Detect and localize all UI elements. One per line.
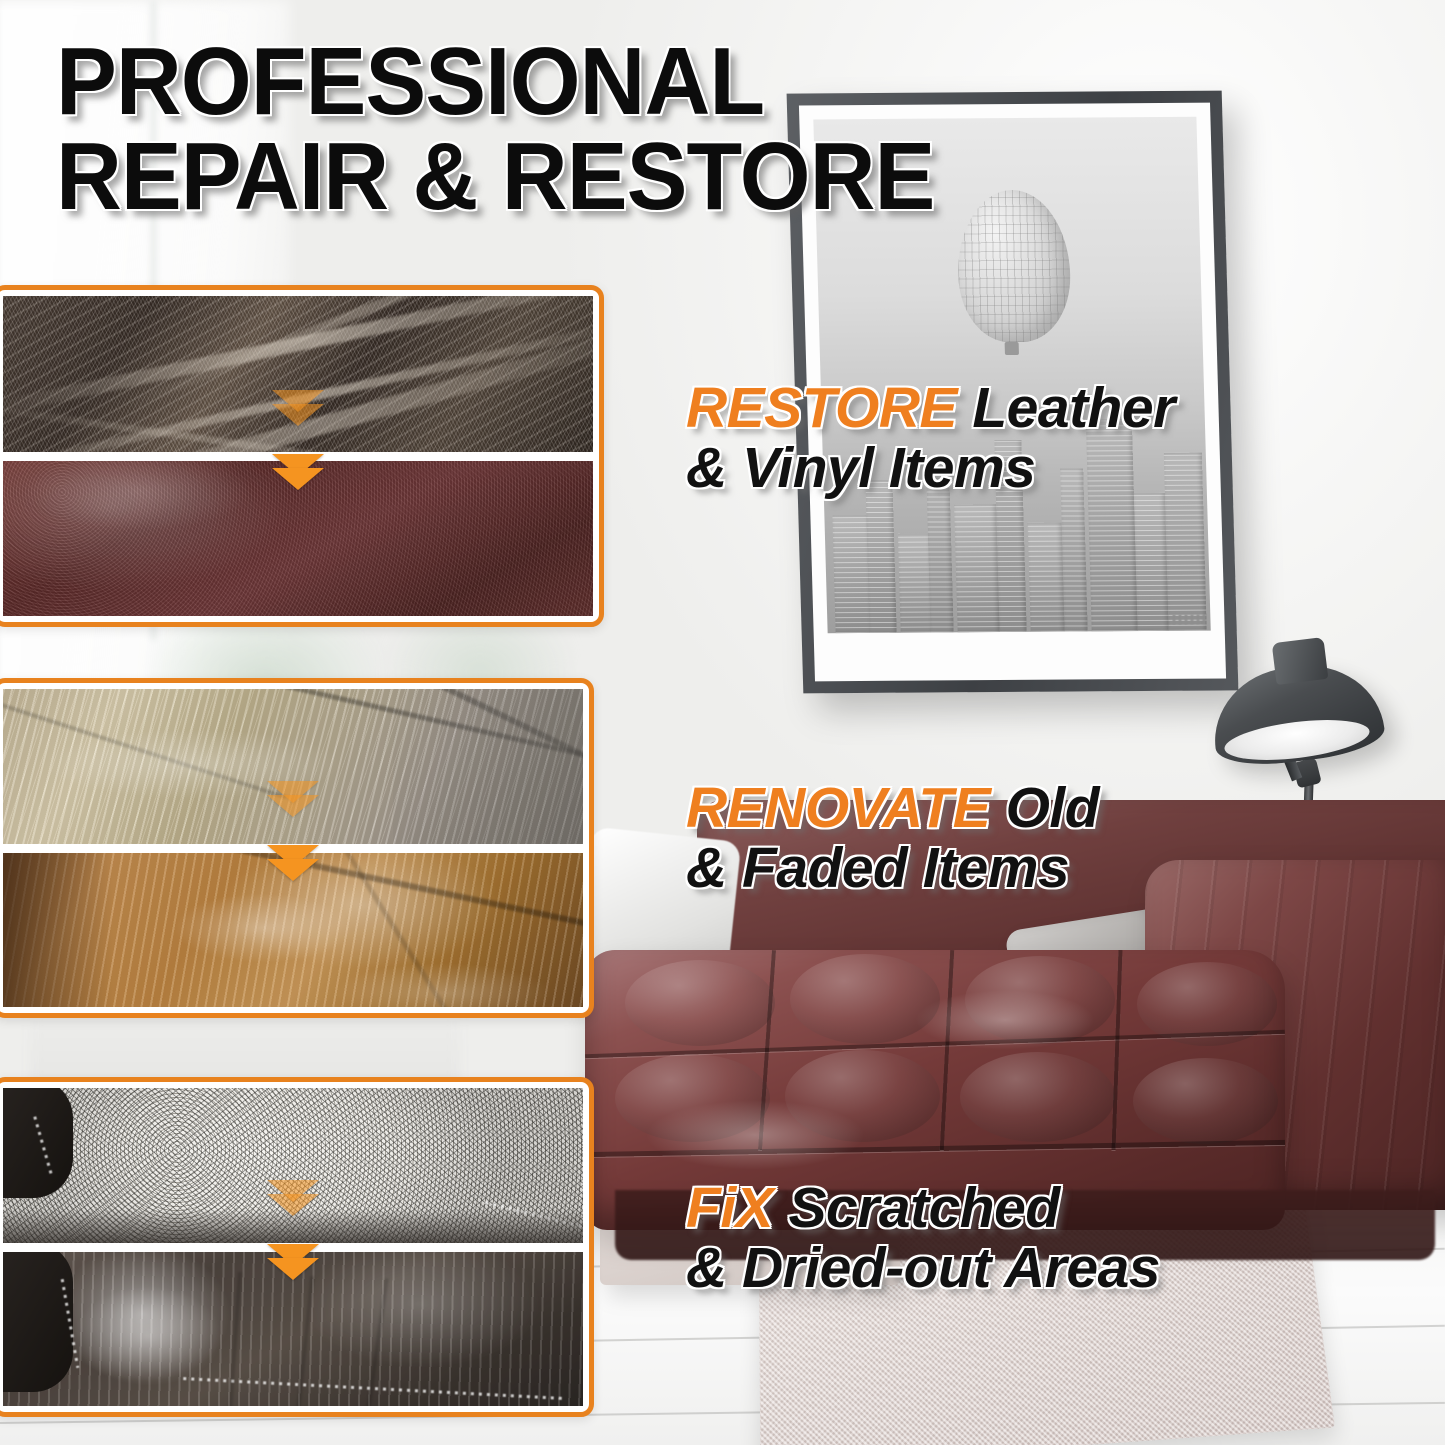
product-marketing-image: PROFESSIONAL REPAIR & RESTORE RESTORE Le…	[0, 0, 1445, 1445]
chevron-arrows-faint	[266, 390, 330, 418]
chevron-arrows	[261, 1244, 325, 1272]
chevron-down-icon	[272, 404, 324, 426]
feature-line2-restore: & Vinyl Items	[686, 438, 1175, 498]
feature-keyword-fix: FiX	[686, 1176, 773, 1240]
before-image-leather-swatch	[3, 296, 593, 452]
feature-line2-fix: & Dried-out Areas	[686, 1238, 1160, 1298]
chevron-arrows-faint	[261, 781, 325, 809]
chevron-down-icon	[267, 1194, 319, 1216]
poster-caption	[1172, 615, 1206, 625]
before-after-card-leather-swatch	[0, 285, 604, 627]
chevron-arrows	[261, 845, 325, 873]
feature-line2-renovate: & Faded Items	[686, 838, 1099, 898]
feature-text-fix: FiX Scratched & Dried-out Areas	[686, 1178, 1160, 1299]
chevron-down-icon	[267, 795, 319, 817]
feature-keyword-renovate: RENOVATE	[686, 776, 990, 840]
chevron-down-icon	[272, 468, 324, 490]
feature-line1-rest-restore: Leather	[957, 376, 1175, 440]
feature-keyword-restore: RESTORE	[686, 376, 957, 440]
chevron-down-icon	[267, 1258, 319, 1280]
before-image-armrest	[3, 1088, 583, 1243]
before-after-card-sofa-cushions	[0, 678, 594, 1018]
feature-line1-rest-renovate: Old	[990, 776, 1099, 840]
feature-text-restore: RESTORE Leather & Vinyl Items	[686, 378, 1175, 499]
lamp-cap	[1272, 637, 1329, 685]
balloon-basket	[1004, 342, 1018, 355]
before-after-card-armrest	[0, 1077, 594, 1417]
feature-text-renovate: RENOVATE Old & Faded Items	[686, 778, 1099, 899]
chevron-arrows	[266, 454, 330, 482]
chevron-arrows-faint	[261, 1180, 325, 1208]
feature-line1-rest-fix: Scratched	[773, 1176, 1059, 1240]
headline-line-2: REPAIR & RESTORE	[56, 129, 1120, 224]
headline-line-1: PROFESSIONAL	[56, 34, 1120, 129]
before-image-sofa-cushions	[3, 689, 583, 844]
chevron-down-icon	[267, 859, 319, 881]
headline: PROFESSIONAL REPAIR & RESTORE	[56, 34, 1120, 224]
